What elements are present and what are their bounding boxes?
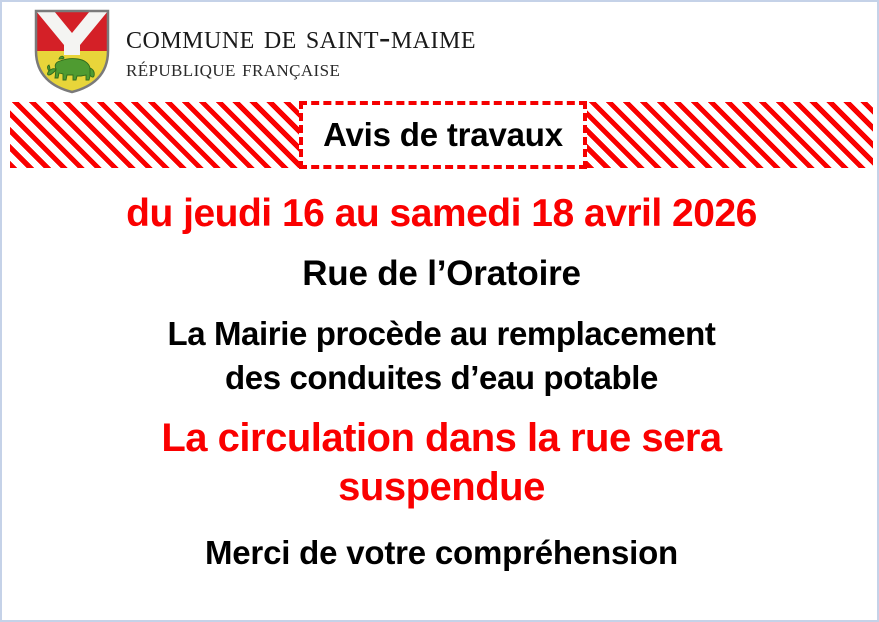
works-street: Rue de l’Oratoire xyxy=(10,237,873,296)
coat-of-arms-icon xyxy=(32,7,112,95)
crest-container xyxy=(24,7,120,95)
notice-type-badge: Avis de travaux xyxy=(299,101,587,169)
notice-body: du jeudi 16 au samedi 18 avril 2026 Rue … xyxy=(10,178,873,574)
header-titles: Commune de Saint-Maime République França… xyxy=(126,20,476,82)
works-dates: du jeudi 16 au samedi 18 avril 2026 xyxy=(10,178,873,237)
closure-notice-line-2: suspendue xyxy=(10,463,873,512)
notice-page: Commune de Saint-Maime République França… xyxy=(0,0,879,622)
closure-notice-line-1: La circulation dans la rue sera xyxy=(10,400,873,463)
document-header: Commune de Saint-Maime République França… xyxy=(2,2,879,100)
works-description-line-2: des conduites d’eau potable xyxy=(10,356,873,400)
republic-line: République Française xyxy=(126,56,476,82)
notice-type-label: Avis de travaux xyxy=(323,118,563,152)
works-description-line-1: La Mairie procède au remplacement xyxy=(10,296,873,356)
thanks-message: Merci de votre compréhension xyxy=(10,512,873,574)
commune-name: Commune de Saint-Maime xyxy=(126,20,476,56)
